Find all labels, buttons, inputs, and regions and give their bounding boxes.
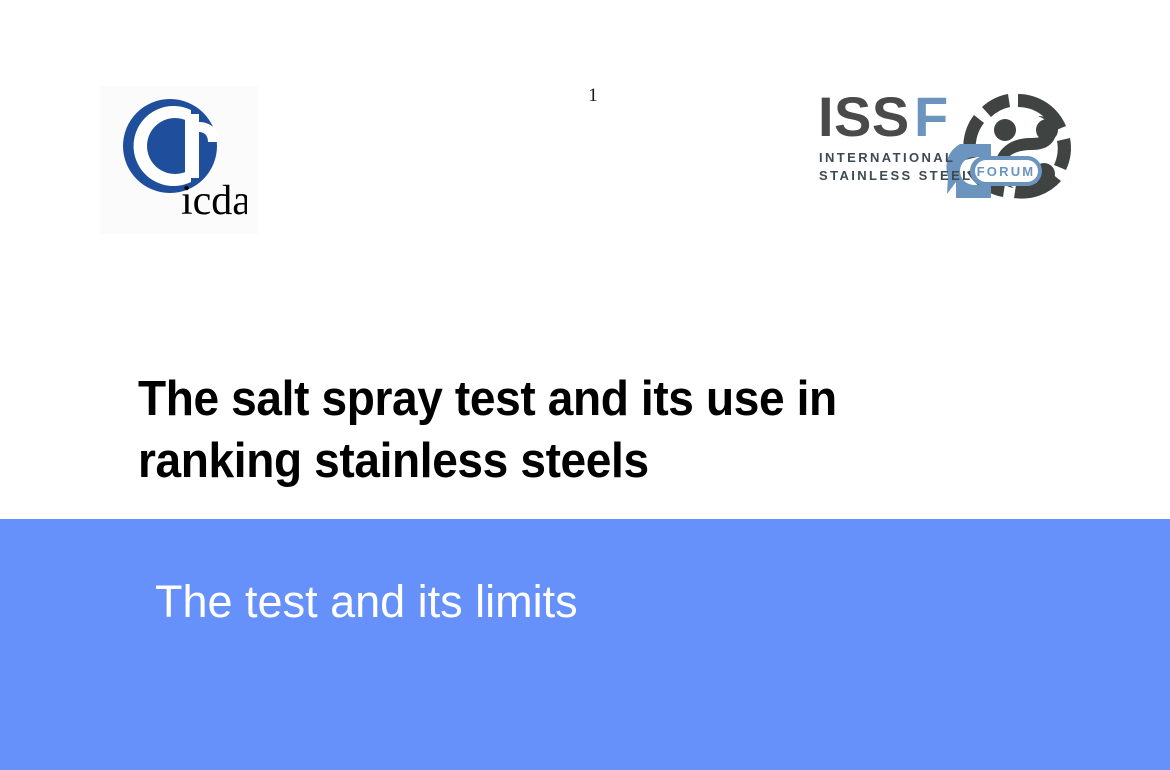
- page-number: 1: [578, 86, 608, 105]
- issf-forum-label: FORUM: [977, 164, 1036, 179]
- slide-title-line-2: ranking stainless steels: [138, 430, 984, 492]
- icda-wordmark: icda: [181, 178, 247, 224]
- issf-tagline-line-2: STAINLESS STEEL: [819, 168, 973, 183]
- section-banner: [0, 519, 1170, 770]
- issf-tagline-line-1: INTERNATIONAL: [819, 150, 955, 165]
- issf-acronym-dark: ISS: [818, 86, 910, 148]
- issf-logo-svg: FORUM ISS F INTERNATIONAL STAINLESS STEE…: [818, 86, 1103, 204]
- icda-logo-svg: icda: [113, 94, 247, 226]
- slide-canvas: icda 1: [0, 0, 1170, 770]
- issf-logo: FORUM ISS F INTERNATIONAL STAINLESS STEE…: [818, 86, 1103, 204]
- slide-title: The salt spray test and its use in ranki…: [138, 368, 984, 492]
- slide-title-line-1: The salt spray test and its use in: [138, 368, 984, 430]
- icda-logo-mark: icda: [113, 94, 247, 226]
- issf-acronym-accent: F: [914, 86, 948, 148]
- section-banner-text: The test and its limits: [155, 573, 578, 631]
- icda-logo: icda: [101, 86, 258, 234]
